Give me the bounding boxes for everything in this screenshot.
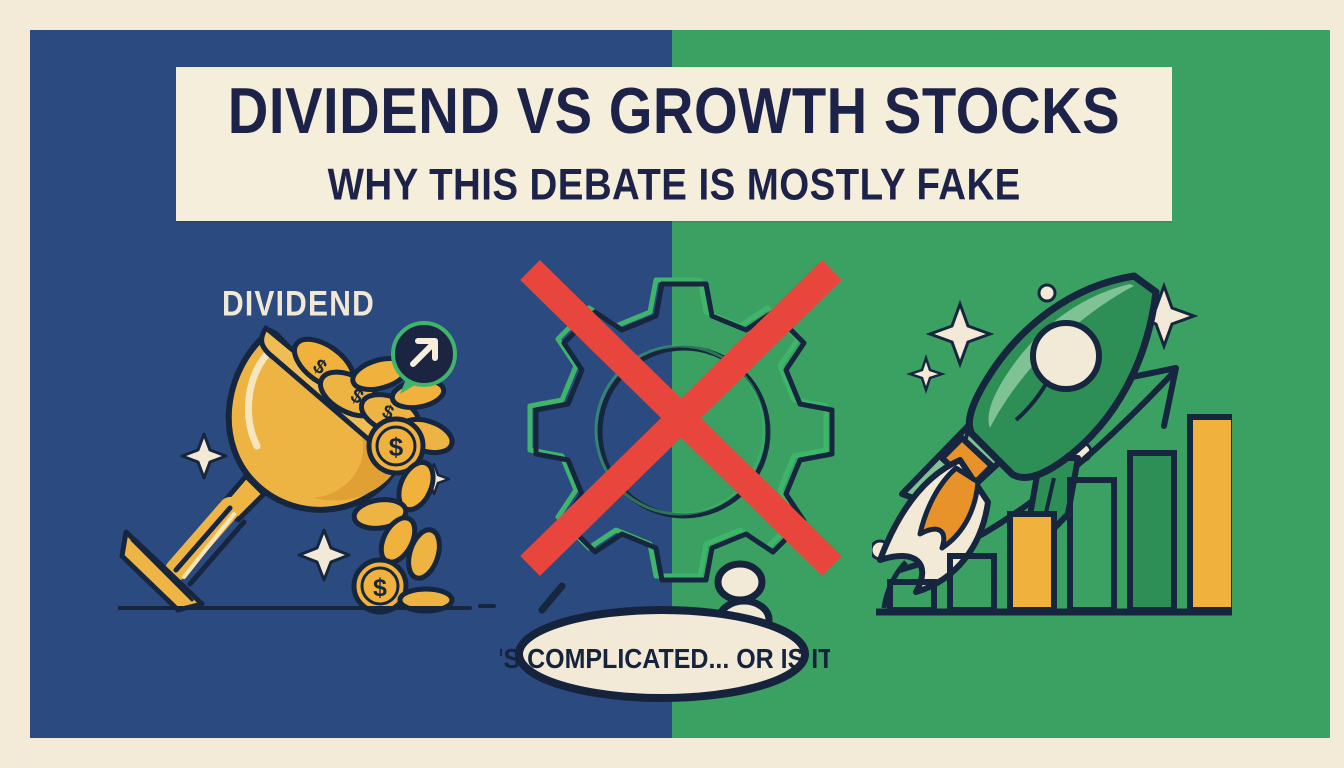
dot bbox=[1039, 285, 1055, 301]
thought-dot bbox=[718, 564, 762, 600]
sparkle-icon bbox=[182, 434, 226, 478]
poster-canvas: DIVIDEND VS GROWTH STOCKS WHY THIS DEBAT… bbox=[0, 0, 1344, 768]
rocket-growth-chart-illustration bbox=[872, 262, 1232, 632]
svg-text:$: $ bbox=[389, 432, 404, 462]
bar bbox=[1130, 453, 1174, 610]
svg-text:$: $ bbox=[373, 574, 387, 602]
title-band: DIVIDEND VS GROWTH STOCKS WHY THIS DEBAT… bbox=[176, 67, 1172, 221]
red-cross-icon bbox=[530, 270, 832, 566]
bubble-text: IT'S COMPLICATED... OR IS IT? bbox=[500, 643, 830, 675]
growth-badge[interactable] bbox=[386, 318, 462, 404]
sparkle-icon bbox=[299, 530, 349, 580]
speech-bubble: IT'S COMPLICATED... OR IS IT? bbox=[500, 538, 830, 708]
sparkle-icon bbox=[930, 304, 990, 364]
bar bbox=[1070, 480, 1114, 610]
rocket-window bbox=[1033, 323, 1099, 389]
page-title: DIVIDEND VS GROWTH STOCKS bbox=[228, 79, 1120, 144]
sparkle-icon bbox=[910, 358, 942, 390]
bubble-tail bbox=[542, 586, 562, 610]
bar bbox=[1190, 417, 1232, 610]
page-subtitle: WHY THIS DEBATE IS MOSTLY FAKE bbox=[327, 162, 1020, 206]
bar bbox=[1010, 514, 1054, 610]
